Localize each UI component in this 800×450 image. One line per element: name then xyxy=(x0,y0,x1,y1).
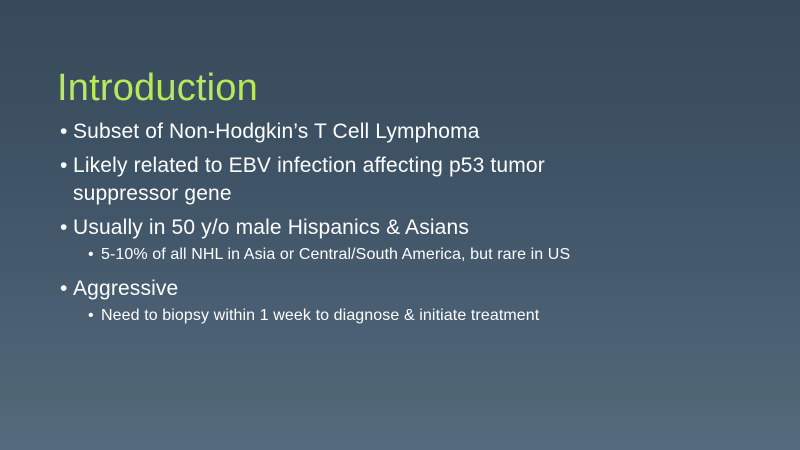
bullet-item-level2: • 5-10% of all NHL in Asia or Central/So… xyxy=(57,244,691,266)
bullet-text: Aggressive xyxy=(73,275,737,303)
bullet-dot-icon: • xyxy=(60,275,68,303)
bullet-item-level1: • Aggressive xyxy=(57,275,737,303)
bullet-dot-icon: • xyxy=(60,152,68,180)
bullet-item-level1: • Usually in 50 y/o male Hispanics & Asi… xyxy=(57,214,737,242)
bullet-item-level2: • Need to biopsy within 1 week to diagno… xyxy=(57,305,737,327)
bullet-dot-icon: • xyxy=(60,118,68,146)
bullet-text: Likely related to EBV infection affectin… xyxy=(73,152,633,208)
presentation-slide: Introduction • Subset of Non-Hodgkin’s T… xyxy=(0,0,800,450)
slide-body-content: • Subset of Non-Hodgkin’s T Cell Lymphom… xyxy=(57,118,737,332)
slide-title: Introduction xyxy=(57,66,258,110)
bullet-text: Need to biopsy within 1 week to diagnose… xyxy=(101,305,737,327)
bullet-item-level1: • Subset of Non-Hodgkin’s T Cell Lymphom… xyxy=(57,118,737,146)
bullet-item-level1: • Likely related to EBV infection affect… xyxy=(57,152,633,208)
bullet-dot-icon: • xyxy=(88,305,94,327)
bullet-dot-icon: • xyxy=(88,244,94,266)
bullet-text: Subset of Non-Hodgkin’s T Cell Lymphoma xyxy=(73,118,737,146)
bullet-text: 5-10% of all NHL in Asia or Central/Sout… xyxy=(101,244,691,266)
bullet-text: Usually in 50 y/o male Hispanics & Asian… xyxy=(73,214,737,242)
bullet-dot-icon: • xyxy=(60,214,68,242)
